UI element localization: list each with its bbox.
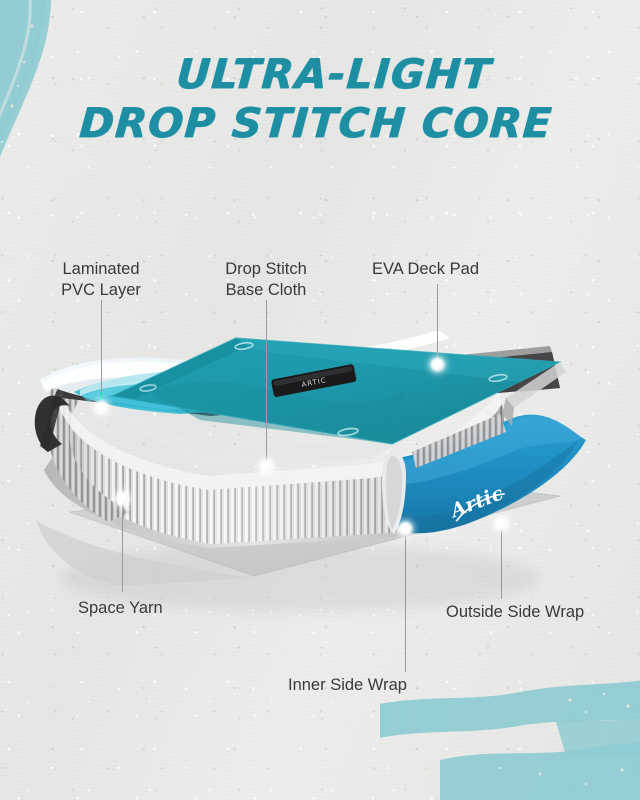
- label-space-yarn: Space Yarn: [78, 598, 163, 619]
- leader-line-drop-stitch-base-cloth: [266, 300, 267, 466]
- leader-dot-outside-side-wrap: [496, 518, 507, 529]
- leader-line-space-yarn: [122, 498, 123, 592]
- leader-line-laminated-pvc-layer: [101, 300, 102, 408]
- infographic-poster: ULTRA-LIGHT DROP STITCH CORE: [0, 0, 640, 800]
- leader-dot-space-yarn: [117, 493, 128, 504]
- label-drop-stitch-base-cloth: Drop Stitch Base Cloth: [208, 259, 324, 301]
- label-laminated-pvc-layer: Laminated PVC Layer: [46, 259, 156, 301]
- leader-line-outside-side-wrap: [501, 523, 502, 599]
- leader-dot-laminated-pvc-layer: [96, 402, 107, 413]
- leader-dot-drop-stitch-base-cloth: [261, 461, 272, 472]
- leader-dot-inner-side-wrap: [400, 523, 411, 534]
- leader-line-eva-deck-pad: [437, 284, 438, 364]
- label-outside-side-wrap: Outside Side Wrap: [446, 602, 584, 623]
- leader-dot-eva-deck-pad: [432, 359, 443, 370]
- leader-line-inner-side-wrap: [405, 528, 406, 672]
- label-eva-deck-pad: EVA Deck Pad: [372, 259, 479, 280]
- label-inner-side-wrap: Inner Side Wrap: [288, 675, 407, 696]
